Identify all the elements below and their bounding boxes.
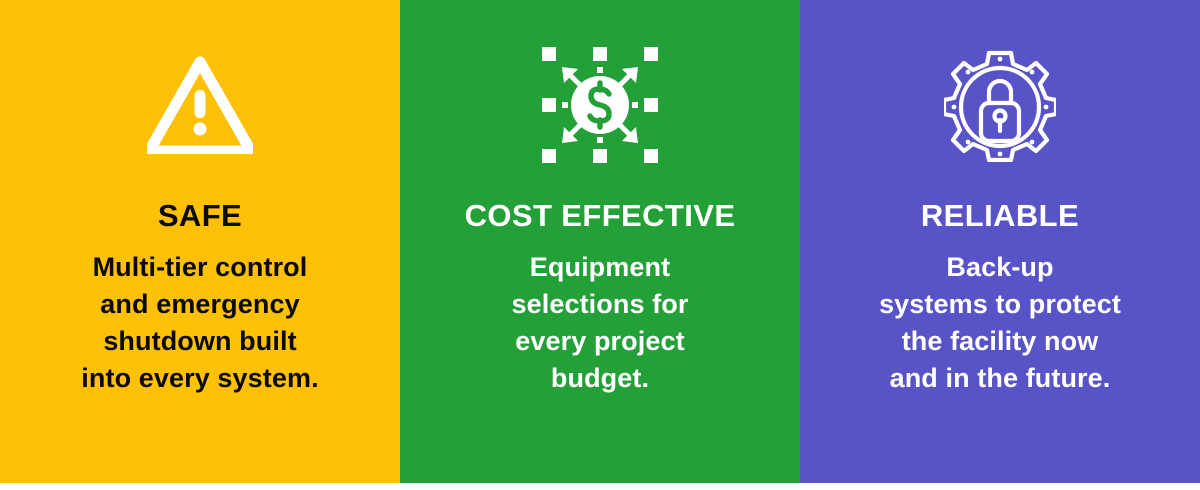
body-line: shutdown built bbox=[81, 323, 318, 360]
dollar-network-icon bbox=[400, 0, 800, 200]
panel-body-safe: Multi-tier control and emergency shutdow… bbox=[73, 231, 326, 397]
panel-heading-reliable: RELIABLE bbox=[915, 200, 1085, 231]
feature-highlights-board: SAFE Multi-tier control and emergency sh… bbox=[0, 0, 1200, 490]
warning-triangle-icon bbox=[0, 0, 400, 200]
body-line: Back-up bbox=[879, 249, 1121, 286]
body-line: budget. bbox=[512, 360, 689, 397]
bottom-white-strip bbox=[0, 483, 1200, 490]
panel-body-cost-effective: Equipment selections for every project b… bbox=[504, 231, 697, 397]
body-line: every project bbox=[512, 323, 689, 360]
panel-heading-cost-effective: COST EFFECTIVE bbox=[459, 200, 742, 231]
body-line: systems to protect bbox=[879, 286, 1121, 323]
body-line: selections for bbox=[512, 286, 689, 323]
body-line: and in the future. bbox=[879, 360, 1121, 397]
gear-lock-icon bbox=[800, 0, 1200, 200]
body-line: into every system. bbox=[81, 360, 318, 397]
panel-body-reliable: Back-up systems to protect the facility … bbox=[871, 231, 1129, 397]
body-line: the facility now bbox=[879, 323, 1121, 360]
panel-safe: SAFE Multi-tier control and emergency sh… bbox=[0, 0, 400, 483]
panel-reliable: RELIABLE Back-up systems to protect the … bbox=[800, 0, 1200, 483]
body-line: Multi-tier control bbox=[81, 249, 318, 286]
body-line: and emergency bbox=[81, 286, 318, 323]
panel-cost-effective: COST EFFECTIVE Equipment selections for … bbox=[400, 0, 800, 483]
body-line: Equipment bbox=[512, 249, 689, 286]
panel-heading-safe: SAFE bbox=[152, 200, 248, 231]
